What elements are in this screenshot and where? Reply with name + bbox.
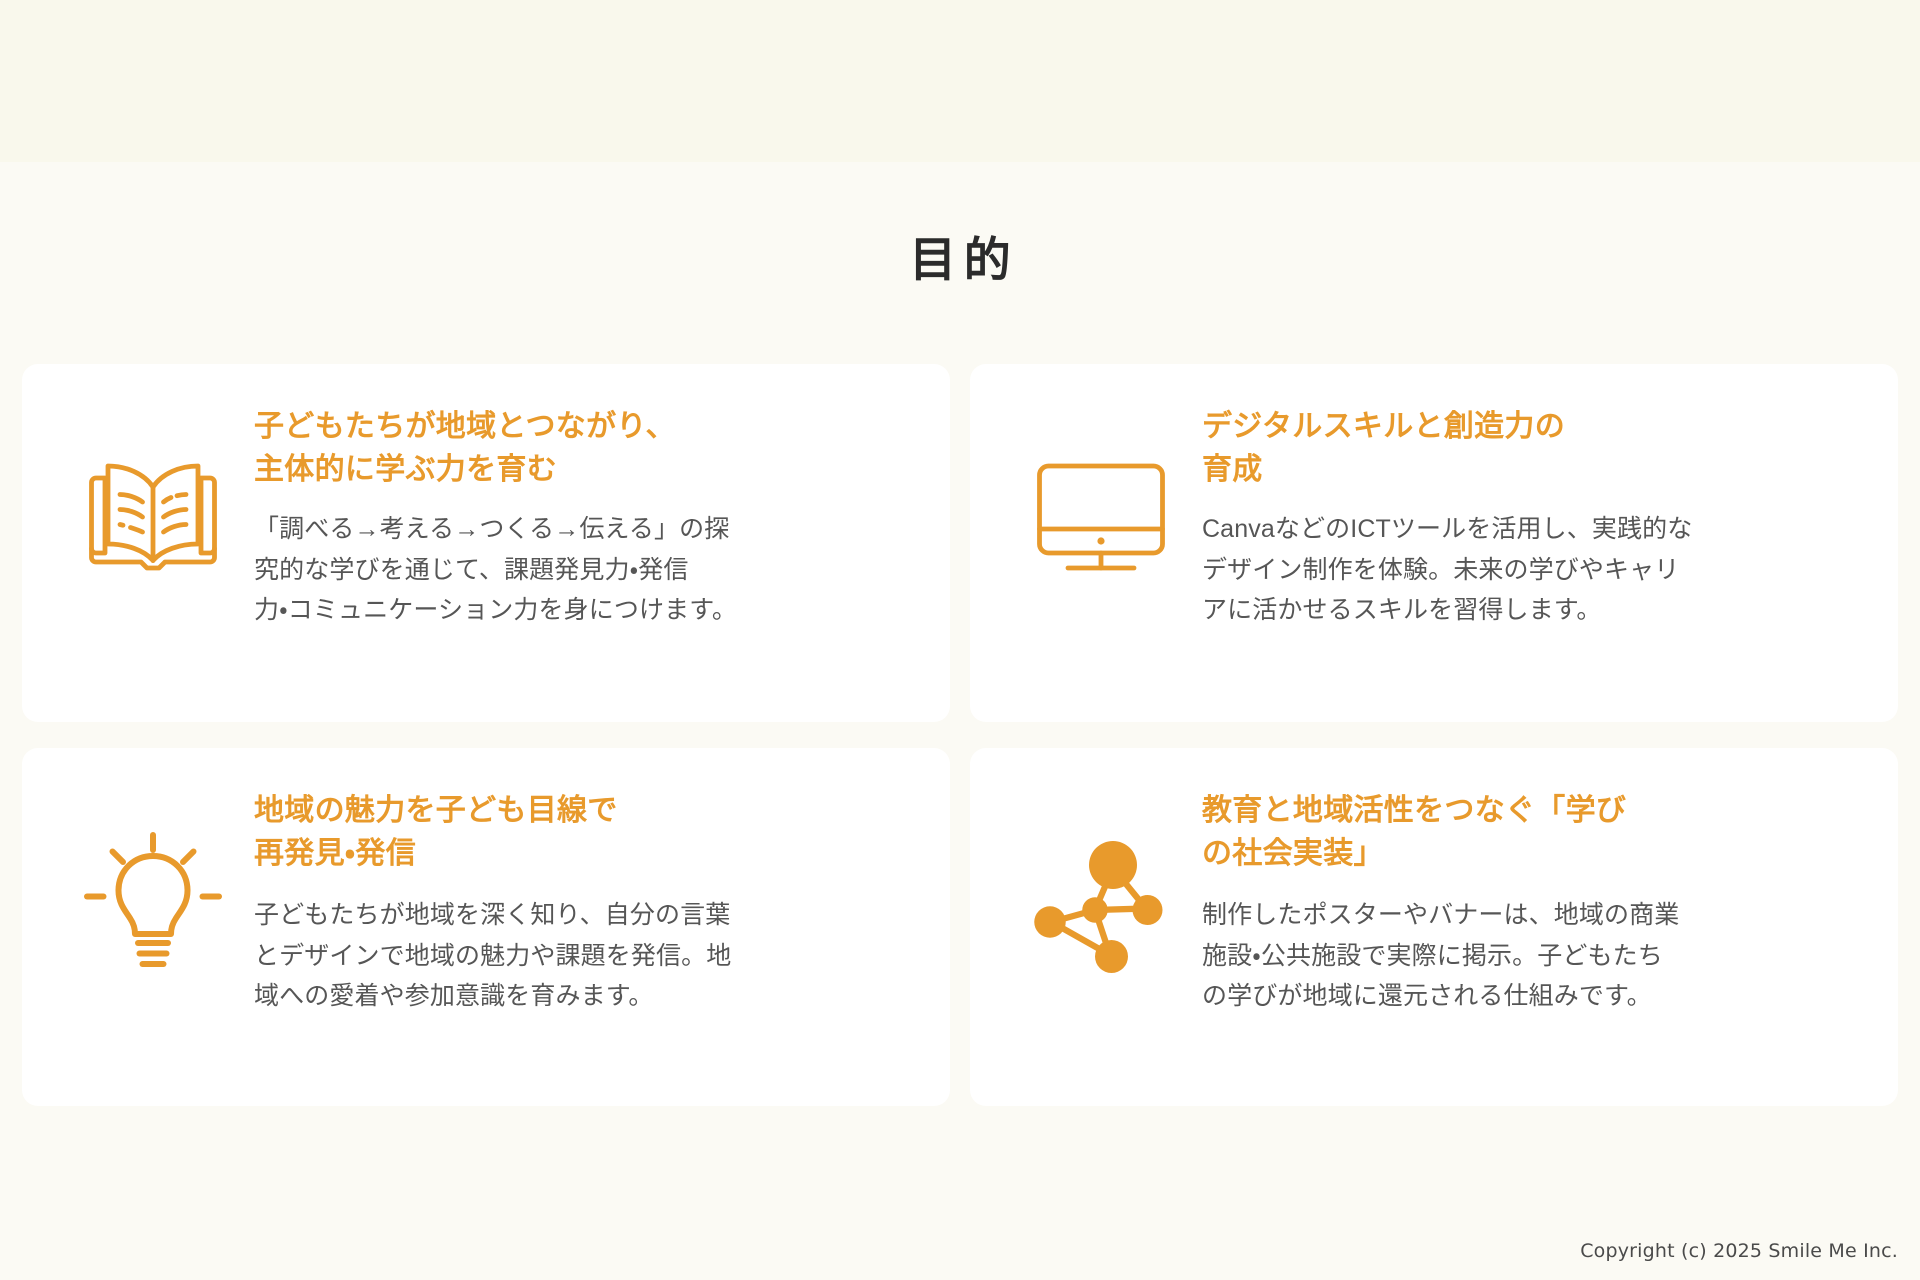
purpose-card-text: 子どもたちが地域を深く知り、自分の言葉 とデザインで地域の魅力や課題を発信。地 …	[254, 895, 910, 1017]
purpose-card-title: 地域の魅力を子ども目線で 再発見・発信	[254, 790, 910, 875]
purpose-card: 地域の魅力を子ども目線で 再発見・発信 子どもたちが地域を深く知り、自分の言葉 …	[22, 748, 950, 1106]
purpose-card-body: デジタルスキルと創造力の 育成 CanvaなどのICTツールを活用し、実践的な …	[1196, 400, 1858, 631]
network-nodes-icon	[1006, 784, 1196, 994]
purpose-card-title: 教育と地域活性をつなぐ「学び の社会実装」	[1202, 790, 1858, 875]
purpose-card-body: 地域の魅力を子ども目線で 再発見・発信 子どもたちが地域を深く知り、自分の言葉 …	[248, 784, 910, 1017]
purpose-card: デジタルスキルと創造力の 育成 CanvaなどのICTツールを活用し、実践的な …	[970, 364, 1898, 722]
purpose-card-text: 制作したポスターやバナーは、地域の商業 施設・公共施設で実際に掲示。子どもたち …	[1202, 895, 1858, 1017]
purpose-card-title: デジタルスキルと創造力の 育成	[1202, 406, 1858, 491]
desktop-monitor-icon	[1006, 400, 1196, 610]
purpose-card-text: CanvaなどのICTツールを活用し、実践的な デザイン制作を体験。未来の学びや…	[1202, 509, 1858, 631]
background-band-top	[0, 0, 1920, 162]
purpose-card: 子どもたちが地域とつながり、 主体的に学ぶ力を育む 「調べる→考える→つくる→伝…	[22, 364, 950, 722]
open-book-icon	[58, 400, 248, 610]
purpose-card-grid: 子どもたちが地域とつながり、 主体的に学ぶ力を育む 「調べる→考える→つくる→伝…	[22, 364, 1898, 1106]
purpose-card-body: 子どもたちが地域とつながり、 主体的に学ぶ力を育む 「調べる→考える→つくる→伝…	[248, 400, 910, 631]
purpose-section-page: 目的	[0, 0, 1920, 1280]
copyright-text: Copyright (c) 2025 Smile Me Inc.	[1580, 1240, 1898, 1262]
lightbulb-icon	[58, 784, 248, 994]
purpose-card-body: 教育と地域活性をつなぐ「学び の社会実装」 制作したポスターやバナーは、地域の商…	[1196, 784, 1858, 1017]
purpose-card-title: 子どもたちが地域とつながり、 主体的に学ぶ力を育む	[254, 406, 910, 491]
purpose-card: 教育と地域活性をつなぐ「学び の社会実装」 制作したポスターやバナーは、地域の商…	[970, 748, 1898, 1106]
purpose-card-text: 「調べる→考える→つくる→伝える」の探 究的な学びを通じて、課題発見力・発信 力…	[254, 509, 910, 631]
page-title: 目的	[0, 232, 1920, 288]
